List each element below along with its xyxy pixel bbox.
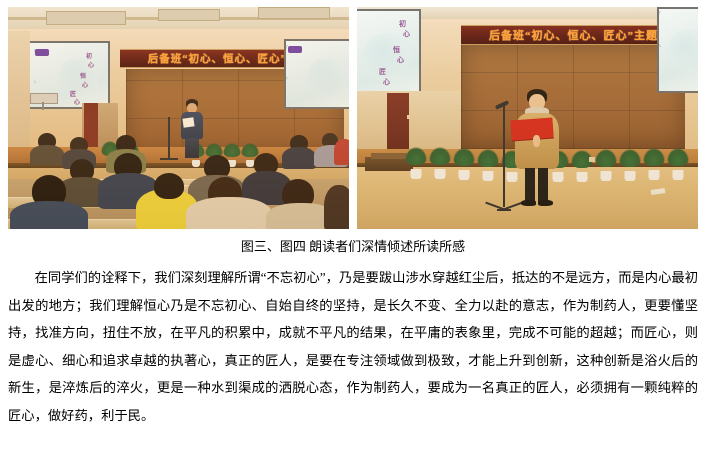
reader-leg [538,168,548,202]
screen-glyph: 心 [397,55,404,65]
projector [30,93,58,104]
floor-object [589,157,595,162]
bamboo-graphic [659,11,695,47]
speaker-legs [185,138,199,158]
plant-pot [673,170,684,180]
screen-glyph: 初 [86,51,92,60]
plant-pot [601,171,612,181]
body-paragraph: 在同学们的诠释下，我们深刻理解所谓“不忘初心”，乃是要跋山涉水穿越红尘后，抵达的… [8,264,698,429]
potted-plant [669,154,687,180]
plant-leaves [619,149,641,167]
plant-pot [246,160,254,167]
microphone-base [160,158,178,160]
plant-pot [577,172,588,182]
screen-glyph: 匠 [379,67,386,77]
screen-glyph: 心 [74,97,80,106]
plant-pot [192,160,200,167]
audience-head [154,173,184,199]
plant-pot [649,170,660,180]
plant-pot [411,169,422,179]
screen-glyph: 心 [88,60,94,69]
red-folder [510,118,553,141]
plant-leaves [453,148,475,166]
screen-glyph: 心 [383,77,390,87]
potted-plant [455,154,473,180]
screen-glyph: 心 [82,80,88,89]
audience-shoulders [334,139,349,165]
potted-plant [407,153,425,179]
ceiling-vent [158,9,220,21]
side-wall [8,31,30,149]
side-wall [357,91,461,153]
potted-plant [479,155,497,181]
wood-wall-panel [461,45,685,149]
plant-pot [625,171,636,181]
reader-shoe [521,200,536,206]
projector-mount [42,102,44,110]
plant-leaves [241,143,259,157]
figure-four-photo: 后备班“初心、恒心、匠心”主题朗 初 心 恒 心 匠 心 [357,7,698,229]
reader-person [509,89,565,211]
projection-screen-right [284,39,349,109]
potted-plant [597,155,615,181]
audience-shoulders [282,147,316,169]
ceiling-vent [46,11,126,25]
door-handle [407,115,410,119]
screen-tag [288,46,302,53]
screen-glyph: 心 [403,29,410,39]
document-page: 后备班“初心、恒心、匠心”主题朗 初 心 恒 心 匠 心 [0,0,706,455]
plant-leaves [223,143,241,157]
plant-leaves [477,149,499,167]
potted-plant [431,153,449,179]
screen-tag [35,49,49,56]
screen-glyph: 初 [399,19,406,29]
figure-row: 后备班“初心、恒心、匠心”主题朗 初 心 恒 心 匠 心 [8,7,698,229]
potted-plant [621,155,639,181]
screen-glyph: 恒 [80,71,86,80]
plant-pot [459,170,470,180]
door [387,93,409,153]
figure-caption: 图三、图四 朗读者们深情倾述所读所感 [0,236,706,255]
plant-pot [435,169,446,179]
stage-steps [371,153,407,159]
bamboo-graphic [357,13,393,53]
microphone-stand [503,105,505,207]
plant-pot [483,171,494,181]
audience-shoulders [324,185,349,229]
figure-three-photo: 后备班“初心、恒心、匠心”主题朗 初 心 恒 心 匠 心 [8,7,349,229]
reader-hands [533,135,540,147]
speaker-person [174,99,210,159]
plant-leaves [405,147,427,165]
audience-shoulders [10,201,88,229]
audience-shoulders [186,197,272,229]
plant-leaves [643,148,665,166]
potted-plant [645,154,663,180]
plant-leaves [429,147,451,165]
projection-screen-right [657,7,698,93]
plant-leaves [595,149,617,167]
audience-shoulders [30,145,64,165]
projection-screen-left: 初 心 恒 心 匠 心 [357,9,421,97]
screen-glyph: 恒 [393,45,400,55]
plant-leaves [667,148,689,166]
reader-leg [525,168,535,202]
reader-shoe [538,200,553,206]
speaker-script [182,117,194,127]
microphone-stand [168,117,170,159]
ceiling-vent [258,7,330,19]
